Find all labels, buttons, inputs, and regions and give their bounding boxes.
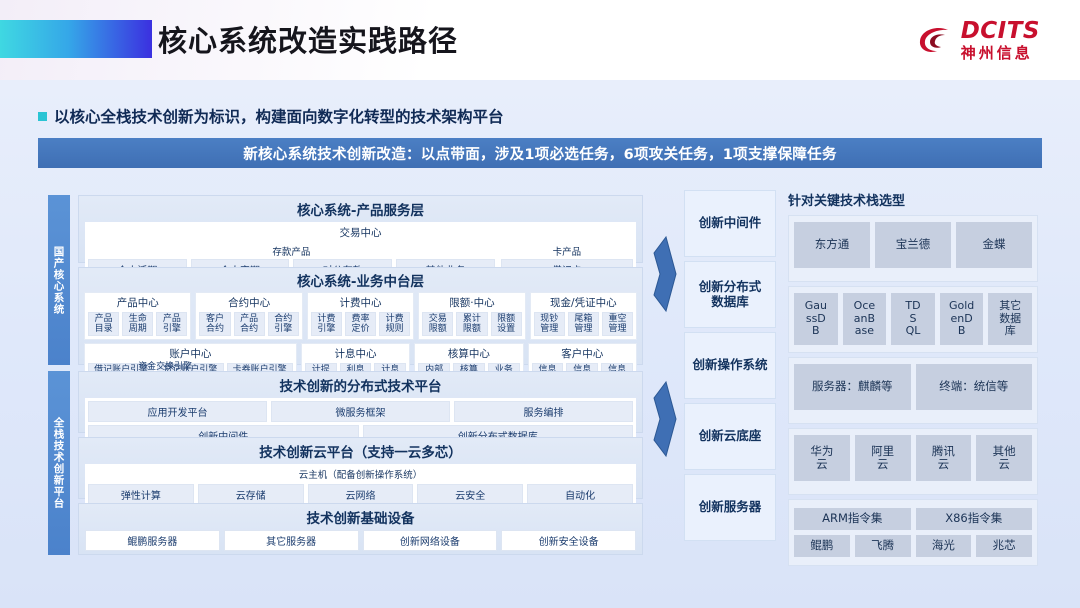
- center-name: 客户中心: [532, 346, 633, 361]
- database-chip[interactable]: Gau ssD B: [794, 293, 838, 345]
- group-database-vendors: Gau ssD B Oce anB ase TD S QL Gold enD B…: [788, 286, 1038, 353]
- cloud-chip[interactable]: 阿里 云: [855, 435, 911, 481]
- center-item[interactable]: 尾箱 管理: [568, 312, 599, 336]
- center-item[interactable]: 重空 管理: [602, 312, 633, 336]
- center-item[interactable]: 合约 引擎: [268, 312, 299, 336]
- center-name: 现金/凭证中心: [534, 295, 633, 310]
- center-item[interactable]: 交易 限额: [422, 312, 453, 336]
- group-cloud-vendors: 华为 云 阿里 云 腾讯 云 其他 云: [788, 428, 1038, 495]
- center-item[interactable]: 累计 限额: [456, 312, 487, 336]
- center-item[interactable]: 费率 定价: [345, 312, 376, 336]
- database-chip[interactable]: TD S QL: [891, 293, 935, 345]
- center-name: 产品中心: [88, 295, 187, 310]
- cloud-cell[interactable]: 云网络: [308, 484, 414, 505]
- group-middleware-vendors: 东方通 宝兰德 金蝶: [788, 215, 1038, 282]
- arch-chip-x86[interactable]: X86指令集: [916, 508, 1033, 530]
- tech-stack-selection-column: 针对关键技术栈选型 东方通 宝兰德 金蝶 Gau ssD B Oce anB a…: [788, 190, 1038, 570]
- dcits-swirl-icon: [915, 21, 955, 61]
- database-chip[interactable]: Gold enD B: [940, 293, 984, 345]
- center-name: 合约中心: [199, 295, 298, 310]
- vendor-chip[interactable]: 宝兰德: [875, 222, 951, 268]
- block-title: 核心系统-产品服务层: [79, 196, 642, 222]
- cloud-cell[interactable]: 自动化: [527, 484, 633, 505]
- bullet-square-icon: [38, 112, 47, 121]
- dcits-logo: DCITS 神州信息: [915, 20, 1040, 61]
- cpu-chip[interactable]: 飞腾: [855, 535, 911, 557]
- tech-stack-title: 针对关键技术栈选型: [788, 190, 1038, 209]
- infra-cell[interactable]: 创新安全设备: [501, 530, 636, 551]
- cpu-chip[interactable]: 鲲鹏: [794, 535, 850, 557]
- cloud-chip[interactable]: 腾讯 云: [916, 435, 972, 481]
- headline-banner-text: 新核心系统技术创新改造：以点带面，涉及1项必选任务，6项攻关任务，1项支撑保障任…: [243, 143, 837, 164]
- infra-cell[interactable]: 鲲鹏服务器: [85, 530, 220, 551]
- category-middleware[interactable]: 创新中间件: [684, 190, 776, 257]
- bullet-label: 以核心全栈技术创新为标识，构建面向数字化转型的技术架构平台: [54, 105, 504, 127]
- block-infrastructure: 技术创新基础设备 鲲鹏服务器 其它服务器 创新网络设备 创新安全设备: [78, 503, 643, 555]
- logo-cn-name: 神州信息: [961, 46, 1040, 61]
- group-label: 卡产品: [501, 243, 633, 259]
- block-cloud-platform: 技术创新云平台（支持一云多芯） 云主机（配备创新操作系统） 弹性计算 云存储 云…: [78, 437, 643, 499]
- cloud-cell[interactable]: 云存储: [198, 484, 304, 505]
- section-bullet: 以核心全栈技术创新为标识，构建面向数字化转型的技术架构平台: [38, 105, 504, 127]
- chip-row: 鲲鹏 飞腾 海光 兆芯: [794, 535, 1032, 557]
- infra-cell[interactable]: 其它服务器: [224, 530, 359, 551]
- center-limit[interactable]: 限额·中心 交易 限额 累计 限额 限额 设置: [418, 292, 525, 340]
- side-tab-tech-platform: 全栈技术创新平台: [48, 371, 70, 555]
- center-contract[interactable]: 合约中心 客户 合约 产品 合约 合约 引擎: [195, 292, 302, 340]
- infra-cell[interactable]: 创新网络设备: [363, 530, 498, 551]
- cloud-chip[interactable]: 其他 云: [976, 435, 1032, 481]
- block-product-service-layer: 核心系统-产品服务层 交易中心 存款产品 个人活期 个人定期 对公存款 其他业务: [78, 195, 643, 263]
- arch-chip-arm[interactable]: ARM指令集: [794, 508, 911, 530]
- slide-body: 以核心全栈技术创新为标识，构建面向数字化转型的技术架构平台 新核心系统技术创新改…: [0, 80, 1080, 608]
- side-tab-core-system: 国产核心系统: [48, 195, 70, 365]
- os-chip[interactable]: 服务器：麒麟等: [794, 364, 911, 410]
- innovation-category-column: 创新中间件 创新分布式 数据库 创新操作系统 创新云底座 创新服务器: [684, 190, 776, 545]
- center-cash-voucher[interactable]: 现金/凭证中心 现钞 管理 尾箱 管理 重空 管理: [530, 292, 637, 340]
- center-product[interactable]: 产品中心 产品 目录 生命 周期 产品 引擎: [84, 292, 191, 340]
- block-title: 技术创新基础设备: [79, 504, 642, 530]
- vendor-chip[interactable]: 东方通: [794, 222, 870, 268]
- database-chip[interactable]: Oce anB ase: [843, 293, 887, 345]
- block-business-middle-layer: 核心系统-业务中台层 产品中心 产品 目录 生命 周期 产品 引擎 合约中心 客…: [78, 267, 643, 365]
- infra-items: 鲲鹏服务器 其它服务器 创新网络设备 创新安全设备: [85, 530, 636, 551]
- tech-cell[interactable]: 应用开发平台: [88, 401, 267, 422]
- group-server-architectures: ARM指令集 X86指令集 鲲鹏 飞腾 海光 兆芯: [788, 499, 1038, 566]
- tech-cell[interactable]: 服务编排: [454, 401, 633, 422]
- trade-center-label: 交易中心: [88, 224, 633, 241]
- block-title: 技术创新的分布式技术平台: [79, 372, 642, 398]
- center-item[interactable]: 客户 合约: [199, 312, 230, 336]
- header-accent-bar: [0, 20, 152, 58]
- infra-row: 鲲鹏服务器 其它服务器 创新网络设备 创新安全设备: [85, 530, 636, 551]
- database-chip[interactable]: 其它 数据 库: [988, 293, 1032, 345]
- cloud-cell[interactable]: 云安全: [417, 484, 523, 505]
- block-title: 技术创新云平台（支持一云多芯）: [79, 438, 642, 464]
- center-billing[interactable]: 计费中心 计费 引擎 费率 定价 计费 规则: [307, 292, 414, 340]
- tech-cell[interactable]: 微服务框架: [271, 401, 450, 422]
- center-name: 计费中心: [311, 295, 410, 310]
- group-label: 存款产品: [88, 243, 495, 259]
- cloud-platform-items: 云主机（配备创新操作系统） 弹性计算 云存储 云网络 云安全 自动化: [85, 464, 636, 508]
- center-item[interactable]: 计费 引擎: [311, 312, 342, 336]
- center-name: 限额·中心: [422, 295, 521, 310]
- architecture-panel: 国产核心系统 全栈技术创新平台 核心系统-产品服务层 交易中心 存款产品 个人活…: [48, 195, 643, 555]
- vendor-chip[interactable]: 金蝶: [956, 222, 1032, 268]
- flow-arrow-icon-bottom: [650, 380, 680, 458]
- block-title: 核心系统-业务中台层: [79, 268, 642, 292]
- center-name: 计息中心: [305, 346, 406, 361]
- logo-wordmark: DCITS: [961, 20, 1040, 43]
- cpu-chip[interactable]: 兆芯: [976, 535, 1032, 557]
- arch-row: ARM指令集 X86指令集: [794, 508, 1032, 530]
- center-item[interactable]: 产品 引擎: [156, 312, 187, 336]
- block-distributed-tech-platform: 技术创新的分布式技术平台 应用开发平台 微服务框架 服务编排 创新中间件 创新分…: [78, 371, 643, 433]
- tech-row-1: 应用开发平台 微服务框架 服务编排: [88, 401, 633, 422]
- group-os-vendors: 服务器：麒麟等 终端：统信等: [788, 357, 1038, 424]
- center-item[interactable]: 现钞 管理: [534, 312, 565, 336]
- category-server[interactable]: 创新服务器: [684, 474, 776, 541]
- flow-arrow-icon-top: [650, 235, 680, 313]
- center-name: 核算中心: [418, 346, 519, 361]
- category-operating-system[interactable]: 创新操作系统: [684, 332, 776, 399]
- headline-banner: 新核心系统技术创新改造：以点带面，涉及1项必选任务，6项攻关任务，1项支撑保障任…: [38, 138, 1042, 168]
- center-item[interactable]: 产品 目录: [88, 312, 119, 336]
- page-header: 核心系统改造实践路径 DCITS 神州信息: [0, 0, 1080, 80]
- cloud-items-row: 弹性计算 云存储 云网络 云安全 自动化: [88, 484, 633, 505]
- center-item[interactable]: 生命 周期: [122, 312, 153, 336]
- center-item[interactable]: 产品 合约: [234, 312, 265, 336]
- cpu-chip[interactable]: 海光: [916, 535, 972, 557]
- centers-row-1: 产品中心 产品 目录 生命 周期 产品 引擎 合约中心 客户 合约 产品 合约 …: [79, 292, 642, 340]
- cloud-host-label: 云主机（配备创新操作系统）: [88, 466, 633, 482]
- center-item[interactable]: 计费 规则: [379, 312, 410, 336]
- page-title: 核心系统改造实践路径: [158, 18, 458, 60]
- cloud-chip[interactable]: 华为 云: [794, 435, 850, 481]
- cloud-cell[interactable]: 弹性计算: [88, 484, 194, 505]
- category-cloud-base[interactable]: 创新云底座: [684, 403, 776, 470]
- center-item[interactable]: 限额 设置: [491, 312, 522, 336]
- os-chip[interactable]: 终端：统信等: [916, 364, 1033, 410]
- category-distributed-database[interactable]: 创新分布式 数据库: [684, 261, 776, 328]
